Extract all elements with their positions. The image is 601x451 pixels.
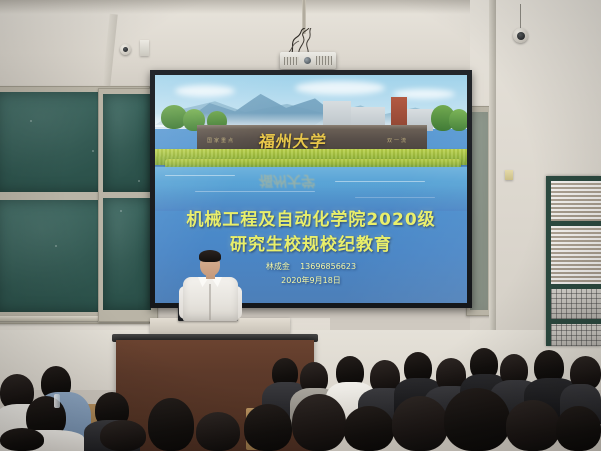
audience-head-foreground — [196, 412, 240, 451]
water-ripple — [335, 181, 425, 182]
gate-side-text-right: 双一流 — [387, 137, 408, 144]
cloud — [175, 85, 235, 97]
chalkboard-panel-mid-top — [103, 94, 151, 192]
audience-head-foreground — [292, 394, 346, 451]
cloud — [295, 81, 385, 95]
audience-head-foreground — [506, 400, 560, 451]
projector-vent — [284, 57, 299, 65]
projector-lens-icon — [304, 57, 311, 64]
presenter-phone: 13696856623 — [300, 262, 356, 271]
audience-head-foreground — [244, 404, 292, 451]
presenter-name: 林成金 — [266, 262, 290, 271]
audience-head-foreground — [100, 420, 146, 451]
gate-side-text-left: 国家重点 — [207, 137, 235, 144]
chalk-speck — [30, 120, 32, 122]
water-bottle — [54, 394, 60, 408]
chalkboard-panel-right — [470, 112, 488, 310]
wall-speaker-icon — [140, 40, 149, 56]
ceiling-wire — [520, 4, 521, 30]
classroom-photo-scene: 福州大学 国家重点 双一流 福州大学 机械工程及自动化学院2020级 研究生校规… — [0, 0, 601, 451]
dome-camera-lens-icon — [123, 47, 128, 52]
audience-head-foreground — [0, 428, 44, 451]
tree — [449, 109, 467, 131]
window-blind[interactable] — [551, 226, 601, 284]
projector-vent — [316, 56, 332, 65]
slide-title-line-1: 机械工程及自动化学院2020级 — [155, 205, 467, 230]
wall-switch-plate[interactable] — [505, 170, 513, 180]
audience-head-foreground — [344, 406, 394, 451]
wall-conduit-right — [489, 0, 496, 330]
chalk-speck — [55, 245, 57, 247]
audience-head-foreground — [148, 398, 194, 451]
window-pane-bottom — [551, 324, 601, 346]
window-security-grid — [551, 289, 601, 319]
audience-head-foreground — [556, 406, 601, 451]
chalk-speck — [138, 180, 140, 182]
projection-screen[interactable]: 福州大学 国家重点 双一流 福州大学 机械工程及自动化学院2020级 研究生校规… — [150, 70, 472, 308]
presenter-hair — [199, 250, 221, 262]
presenter-shirt-placket — [209, 284, 211, 320]
window — [546, 176, 601, 346]
window-blind[interactable] — [551, 181, 601, 221]
window-pane-low — [551, 289, 601, 319]
water-ripple — [165, 175, 235, 176]
window-pane-top — [551, 181, 601, 221]
audience-head-foreground — [392, 396, 448, 451]
audience-head-foreground — [444, 388, 510, 451]
chalkboard-panel-mid-bottom — [103, 198, 151, 310]
chalk-speck — [120, 210, 122, 212]
window-pane-mid — [551, 226, 601, 284]
window-security-grid — [551, 324, 601, 346]
dome-camera-lens-icon-right — [517, 32, 525, 40]
chalk-speck — [92, 150, 94, 152]
